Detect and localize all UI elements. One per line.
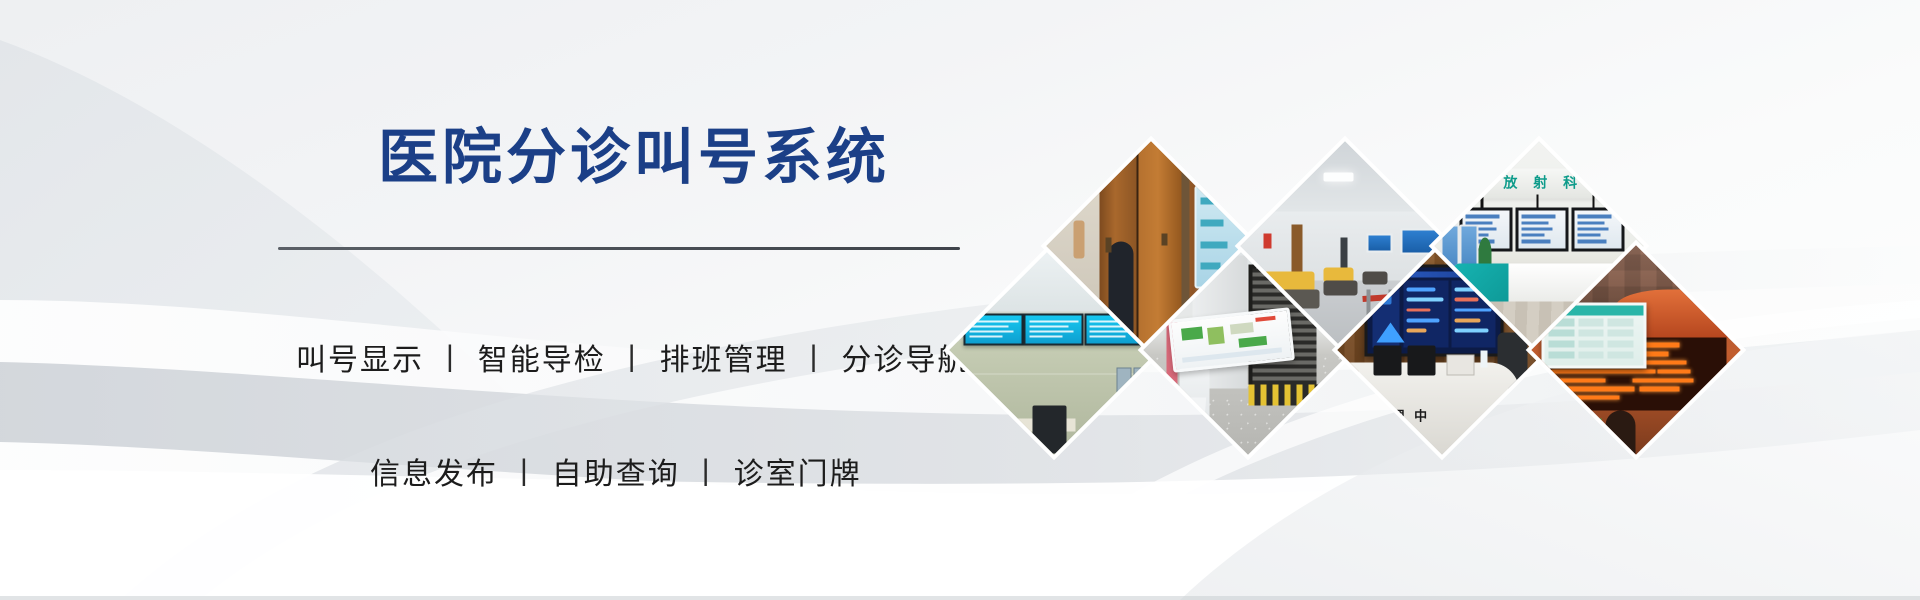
feature-item-info-publish[interactable]: 信息发布	[370, 449, 498, 493]
feature-separator: |	[788, 340, 842, 374]
feature-item-triage-navigation[interactable]: 分诊导航	[841, 335, 969, 379]
feature-separator: |	[606, 340, 660, 374]
feature-row-1: 叫号显示 | 智能导检 | 排班管理 | 分诊导航	[296, 335, 969, 379]
feature-row-2: 信息发布 | 自助查询 | 诊室门牌	[370, 449, 862, 493]
feature-separator: |	[680, 454, 734, 488]
title-divider	[278, 247, 960, 250]
radiology-department-sign-text: 放 射 科	[1496, 173, 1591, 195]
feature-item-shift-management[interactable]: 排班管理	[660, 335, 788, 379]
feature-separator: |	[498, 454, 552, 488]
feature-separator: |	[424, 340, 478, 374]
management-center-desk-text: 管 理 中 心	[1369, 406, 1446, 432]
feature-item-smart-guide[interactable]: 智能导检	[478, 335, 606, 379]
banner-text-block: 医院分诊叫号系统 叫号显示 | 智能导检 | 排班管理 | 分诊导航 信息发布 …	[0, 0, 1000, 600]
hospital-triage-banner: 医院分诊叫号系统 叫号显示 | 智能导检 | 排班管理 | 分诊导航 信息发布 …	[0, 0, 1920, 600]
feature-item-clinic-doorplate[interactable]: 诊室门牌	[734, 449, 862, 493]
feature-item-self-service-query[interactable]: 自助查询	[552, 449, 680, 493]
diamond-photo-collage: 管 理 中 心 放 射 科	[980, 150, 1740, 480]
page-title: 医院分诊叫号系统	[378, 128, 890, 188]
feature-item-call-display[interactable]: 叫号显示	[296, 335, 424, 379]
